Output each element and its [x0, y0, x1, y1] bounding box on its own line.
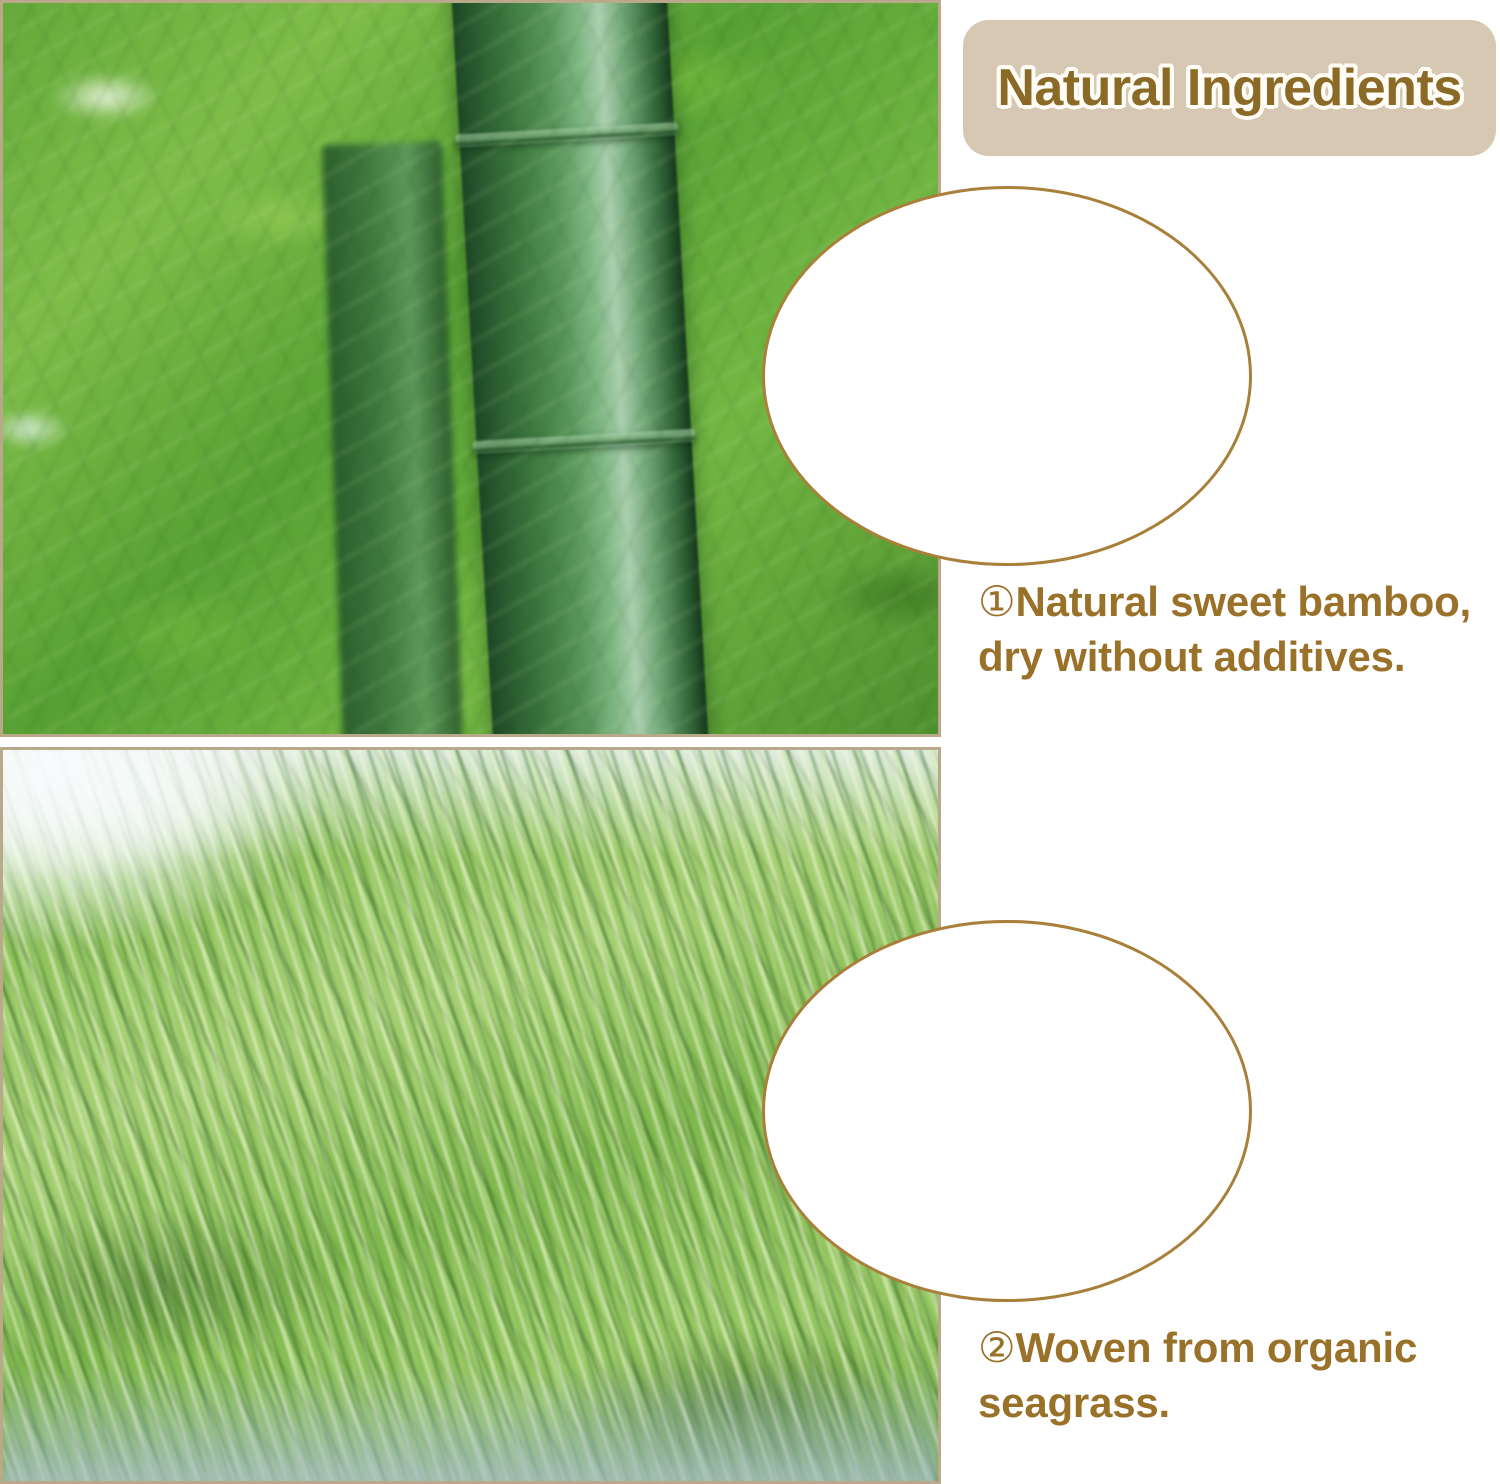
- callout-2-marker: ②: [978, 1324, 1015, 1371]
- title-banner: Natural Ingredients: [963, 20, 1496, 156]
- seagrass-bottom-shadow: [3, 1367, 938, 1484]
- callout-2-text: Woven from organic seagrass.: [978, 1324, 1417, 1426]
- seagrass-sky-highlight: [0, 747, 323, 940]
- callout-oval-border: [762, 920, 1252, 1302]
- infographic-page: Natural Ingredients ①Natural sweet bambo…: [0, 0, 1500, 1484]
- callout-1-caption: ①Natural sweet bamboo, dry without addit…: [978, 574, 1488, 685]
- callout-2-caption: ②Woven from organic seagrass.: [978, 1320, 1490, 1431]
- callout-bamboo: [762, 186, 1252, 566]
- callout-1-marker: ①: [978, 578, 1015, 625]
- page-title: Natural Ingredients: [997, 58, 1461, 118]
- callout-1-text: Natural sweet bamboo, dry without additi…: [978, 578, 1471, 680]
- callout-seagrass: [762, 920, 1252, 1302]
- callout-oval-border: [762, 186, 1252, 566]
